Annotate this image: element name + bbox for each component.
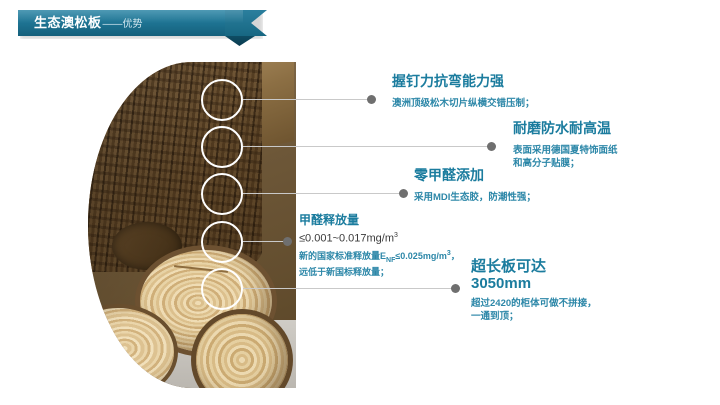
callout-wear-water-heat: 耐磨防水耐高温 表面采用德国夏特饰面纸 和高分子贴膜； bbox=[513, 120, 618, 170]
callout-marker-3[interactable] bbox=[201, 173, 243, 215]
callout-heading: 握钉力抗弯能力强 bbox=[392, 73, 535, 90]
callout-body-line: 远低于新国标释放量； bbox=[299, 266, 460, 279]
callout-leader-3 bbox=[243, 193, 403, 194]
callout-marker-4[interactable] bbox=[201, 221, 243, 263]
callout-heading: 甲醛释放量 bbox=[299, 213, 460, 228]
photo-vignette bbox=[88, 62, 296, 388]
callout-heading: 超长板可达 bbox=[471, 258, 597, 275]
photo-inner bbox=[88, 62, 296, 388]
callout-leader-5 bbox=[243, 288, 455, 289]
callout-body-line: 超过2420的柜体可做不拼接， bbox=[471, 297, 597, 310]
callout-value: ≤0.001~0.017mg/m3 bbox=[299, 228, 460, 247]
callout-leader-4 bbox=[243, 241, 287, 242]
callout-extra-long-board: 超长板可达 3050mm 超过2420的柜体可做不拼接， 一通到顶； bbox=[471, 258, 597, 323]
standard-tail: ， bbox=[451, 251, 460, 261]
callout-marker-5[interactable] bbox=[201, 268, 243, 310]
callout-marker-2[interactable] bbox=[201, 126, 243, 168]
title-ribbon: 生态澳松板——优势 bbox=[18, 10, 263, 40]
callout-body-line: 采用MDI生态胶，防潮性强； bbox=[414, 191, 536, 204]
callout-leader-1 bbox=[243, 99, 371, 100]
callout-standard-line: 新的国家标准释放量ENF≤0.025mg/m3， bbox=[299, 247, 460, 267]
ribbon-text: 生态澳松板——优势 bbox=[34, 10, 143, 36]
callout-body-line: 澳洲顶级松木切片纵横交错压制； bbox=[392, 97, 535, 110]
callout-formaldehyde-emission: 甲醛释放量 ≤0.001~0.017mg/m3 新的国家标准释放量ENF≤0.0… bbox=[299, 213, 460, 279]
callout-heading: 零甲醛添加 bbox=[414, 167, 536, 184]
pine-logs-photo bbox=[88, 62, 296, 388]
callout-heading: 耐磨防水耐高温 bbox=[513, 120, 618, 137]
callout-value-sup: 3 bbox=[394, 232, 398, 239]
slide-canvas: 生态澳松板——优势 握钉力抗弯能力强 澳洲顶级松木切片纵横交错压制； 耐磨防水耐… bbox=[0, 0, 720, 405]
callout-enddot-5 bbox=[451, 284, 460, 293]
ribbon-fold bbox=[225, 36, 255, 46]
page-title: 生态澳松板 bbox=[34, 15, 102, 30]
callout-zero-formaldehyde: 零甲醛添加 采用MDI生态胶，防潮性强； bbox=[414, 167, 536, 204]
callout-enddot-4 bbox=[283, 237, 292, 246]
callout-body-line: 表面采用德国夏特饰面纸 bbox=[513, 144, 618, 157]
callout-value: 3050mm bbox=[471, 275, 597, 293]
callout-nail-holding: 握钉力抗弯能力强 澳洲顶级松木切片纵横交错压制； bbox=[392, 73, 535, 110]
page-subtitle: ——优势 bbox=[103, 19, 143, 30]
callout-value-text: ≤0.001~0.017mg/m bbox=[299, 233, 394, 245]
standard-value: ≤0.025mg/m bbox=[395, 251, 446, 261]
callout-body-line: 一通到顶； bbox=[471, 310, 597, 323]
callout-enddot-1 bbox=[367, 95, 376, 104]
callout-marker-1[interactable] bbox=[201, 79, 243, 121]
standard-prefix: 新的国家标准释放量E bbox=[299, 251, 386, 261]
callout-enddot-3 bbox=[399, 189, 408, 198]
standard-subscript: NF bbox=[386, 256, 395, 263]
callout-leader-2 bbox=[243, 146, 491, 147]
callout-enddot-2 bbox=[487, 142, 496, 151]
